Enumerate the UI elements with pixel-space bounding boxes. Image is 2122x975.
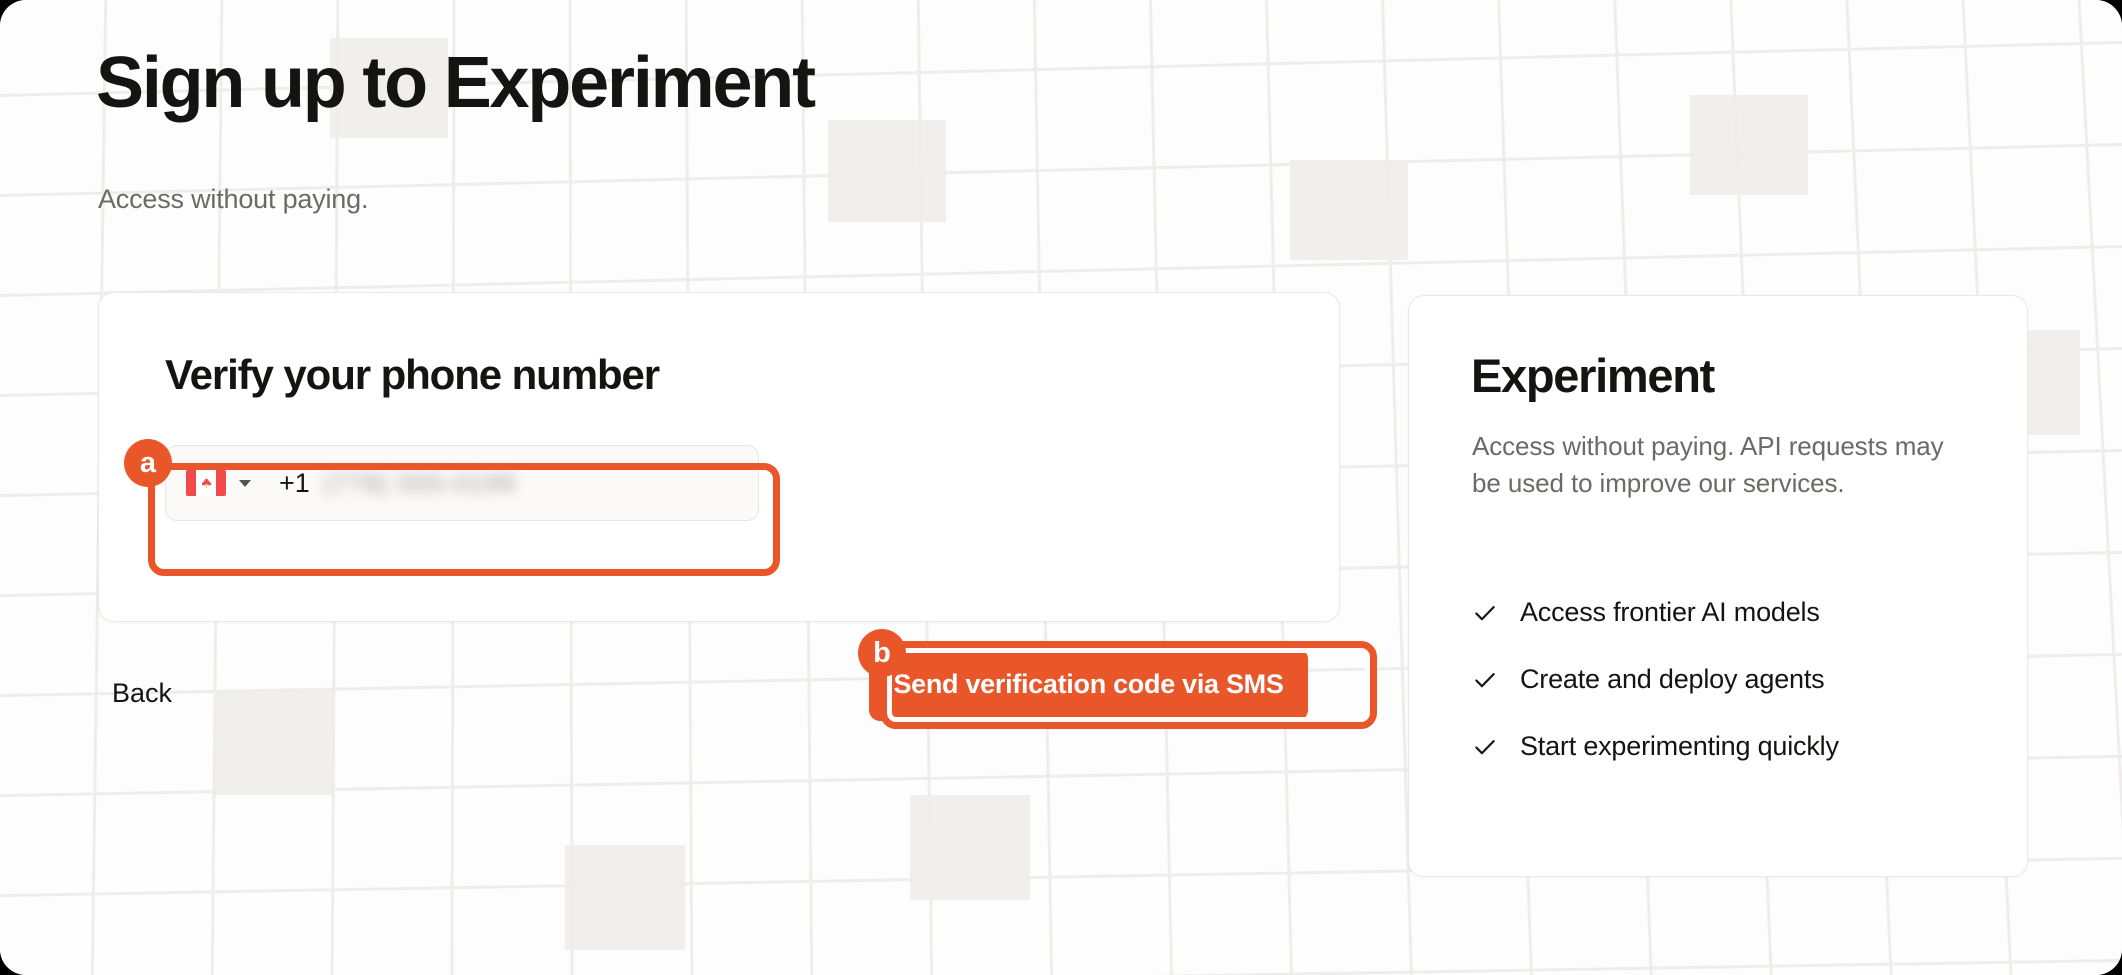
- plan-description: Access without paying. API requests may …: [1472, 428, 1972, 502]
- page-subtitle: Access without paying.: [98, 184, 368, 215]
- plan-feature-list: Access frontier AI models Create and dep…: [1472, 579, 1992, 780]
- check-icon: [1472, 734, 1498, 760]
- verification-form-card: Verify your phone number +1 (778) 555-01…: [98, 292, 1340, 622]
- feature-label: Start experimenting quickly: [1520, 731, 1839, 762]
- chevron-down-icon[interactable]: [239, 480, 251, 487]
- list-item: Create and deploy agents: [1472, 646, 1992, 713]
- check-icon: [1472, 600, 1498, 626]
- send-sms-button[interactable]: Send verification code via SMS: [869, 648, 1308, 721]
- plan-title: Experiment: [1471, 348, 1714, 403]
- page-title: Sign up to Experiment: [96, 46, 814, 122]
- form-heading: Verify your phone number: [165, 351, 659, 399]
- feature-label: Access frontier AI models: [1520, 597, 1820, 628]
- maple-leaf-icon: [200, 476, 213, 490]
- feature-label: Create and deploy agents: [1520, 664, 1824, 695]
- list-item: Start experimenting quickly: [1472, 713, 1992, 780]
- app-page: Sign up to Experiment Access without pay…: [0, 0, 2122, 975]
- phone-input[interactable]: +1 (778) 555-0199: [165, 445, 759, 521]
- back-link[interactable]: Back: [112, 678, 172, 709]
- dial-code-label: +1: [279, 468, 310, 499]
- plan-info-card: Experiment Access without paying. API re…: [1408, 295, 2028, 877]
- list-item: Access frontier AI models: [1472, 579, 1992, 646]
- check-icon: [1472, 667, 1498, 693]
- phone-number-value[interactable]: (778) 555-0199: [324, 468, 534, 498]
- canada-flag-icon: [186, 470, 226, 496]
